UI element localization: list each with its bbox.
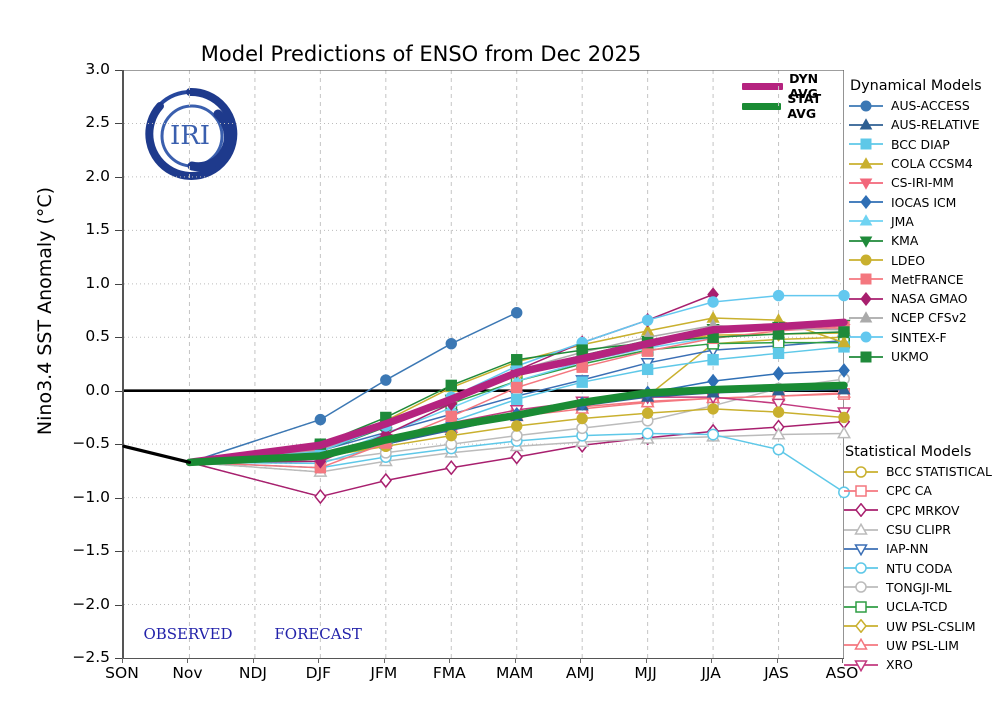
- series-lines: [124, 70, 844, 658]
- legend-label: NTU CODA: [886, 561, 952, 576]
- legend-marker-triangle-down-icon: [848, 176, 884, 190]
- legend-marker-diamond-icon: [848, 195, 884, 209]
- legend-marker-diamond-open-icon: [843, 503, 879, 517]
- legend-label: UW PSL-LIM: [886, 638, 959, 653]
- legend-label: BCC STATISTICAL: [886, 464, 992, 479]
- series-observed: [124, 446, 189, 462]
- legend-label: SINTEX-F: [891, 330, 947, 345]
- y-tick-mark: [115, 498, 122, 499]
- legend-marker-triangle-up-open-icon: [843, 523, 879, 537]
- legend-marker-triangle-up-icon: [848, 214, 884, 228]
- legend-marker-circle-icon: [848, 99, 884, 113]
- legend-marker-triangle-up-icon: [848, 118, 884, 132]
- legend-label: BCC DIAP: [891, 137, 950, 152]
- annotation-forecast: FORECAST: [274, 625, 362, 643]
- legend-row-jma[interactable]: JMA: [848, 212, 982, 231]
- legend-label: CSU CLIPR: [886, 522, 951, 537]
- legend-marker-diamond-icon: [848, 292, 884, 306]
- legend-label: AUS-ACCESS: [891, 98, 970, 113]
- y-tick-label: 3.0: [40, 60, 110, 78]
- y-tick-label: 1.5: [40, 220, 110, 238]
- legend-label: CPC CA: [886, 483, 932, 498]
- y-tick-label: 0.5: [40, 327, 110, 345]
- legend-label: IOCAS ICM: [891, 195, 956, 210]
- legend-row-cs-iri-mm[interactable]: CS-IRI-MM: [848, 173, 982, 192]
- legend-row-bcc-diap[interactable]: BCC DIAP: [848, 135, 982, 154]
- legend-marker-triangle-down-icon: [848, 234, 884, 248]
- x-tick-mark: [449, 658, 450, 663]
- x-tick-mark: [515, 658, 516, 663]
- legend-marker-square-icon: [848, 272, 884, 286]
- legend-marker-triangle-down-open-icon: [843, 542, 879, 556]
- x-tick-mark: [646, 658, 647, 663]
- legend-label: CS-IRI-MM: [891, 175, 954, 190]
- dynamical-legend-title: Dynamical Models: [850, 78, 982, 94]
- x-tick-mark: [318, 658, 319, 663]
- legend-marker-circle-icon: [848, 253, 884, 267]
- legend-label: KMA: [891, 233, 918, 248]
- legend-row-cpc-mrkov[interactable]: CPC MRKOV: [843, 501, 992, 520]
- legend-marker-triangle-down-open-icon: [843, 658, 879, 672]
- y-tick-mark: [115, 444, 122, 445]
- legend-marker-triangle-up-icon: [848, 157, 884, 171]
- dynamical-models-legend: Dynamical Models AUS-ACCESSAUS-RELATIVEB…: [848, 78, 982, 366]
- y-tick-mark: [115, 658, 122, 659]
- legend-marker-circle-open-icon: [843, 580, 879, 594]
- legend-label: LDEO: [891, 253, 925, 268]
- legend-label: UW PSL-CSLIM: [886, 619, 976, 634]
- legend-row-cpc-ca[interactable]: CPC CA: [843, 481, 992, 500]
- y-tick-label: 0.0: [40, 381, 110, 399]
- y-tick-label: 2.0: [40, 167, 110, 185]
- legend-label: IAP-NN: [886, 541, 928, 556]
- page-title: Model Predictions of ENSO from Dec 2025: [0, 42, 842, 66]
- statistical-legend-title: Statistical Models: [845, 444, 992, 460]
- x-tick-mark: [384, 658, 385, 663]
- plot-area: [122, 70, 844, 659]
- y-tick-label: 2.5: [40, 113, 110, 131]
- legend-row-kma[interactable]: KMA: [848, 231, 982, 250]
- y-tick-mark: [115, 177, 122, 178]
- y-tick-mark: [115, 123, 122, 124]
- legend-marker-circle-icon: [848, 330, 884, 344]
- legend-marker-triangle-up-open-icon: [843, 638, 879, 652]
- legend-marker-diamond-open-icon: [843, 619, 879, 633]
- legend-row-bcc-statistical[interactable]: BCC STATISTICAL: [843, 462, 992, 481]
- x-tick-mark: [777, 658, 778, 663]
- legend-row-cola-ccsm4[interactable]: COLA CCSM4: [848, 154, 982, 173]
- legend-row-csu-clipr[interactable]: CSU CLIPR: [843, 520, 992, 539]
- legend-row-tongji-ml[interactable]: TONGJI-ML: [843, 578, 992, 597]
- legend-marker-triangle-up-icon: [848, 311, 884, 325]
- y-tick-label: −1.0: [40, 488, 110, 506]
- x-tick-mark: [253, 658, 254, 663]
- legend-row-xro[interactable]: XRO: [843, 655, 992, 674]
- y-tick-label: −2.0: [40, 595, 110, 613]
- legend-row-nasa-gmao[interactable]: NASA GMAO: [848, 289, 982, 308]
- legend-label: MetFRANCE: [891, 272, 964, 287]
- legend-marker-circle-open-icon: [843, 561, 879, 575]
- legend-label: AUS-RELATIVE: [891, 117, 980, 132]
- y-tick-mark: [115, 391, 122, 392]
- y-tick-mark: [115, 551, 122, 552]
- legend-label: XRO: [886, 657, 913, 672]
- legend-marker-square-open-icon: [843, 484, 879, 498]
- legend-label: UCLA-TCD: [886, 599, 947, 614]
- y-tick-label: 1.0: [40, 274, 110, 292]
- legend-label: JMA: [891, 214, 914, 229]
- x-tick-mark: [187, 658, 188, 663]
- legend-row-sintex-f[interactable]: SINTEX-F: [848, 328, 982, 347]
- legend-label: NASA GMAO: [891, 291, 968, 306]
- legend-row-ntu-coda[interactable]: NTU CODA: [843, 558, 992, 577]
- legend-row-ucla-tcd[interactable]: UCLA-TCD: [843, 597, 992, 616]
- x-tick-mark: [122, 658, 123, 663]
- x-tick-mark: [711, 658, 712, 663]
- legend-row-ncep-cfsv2[interactable]: NCEP CFSv2: [848, 308, 982, 327]
- legend-row-ukmo[interactable]: UKMO: [848, 347, 982, 366]
- annotation-observed: OBSERVED: [143, 625, 232, 643]
- y-tick-label: −1.5: [40, 541, 110, 559]
- legend-row-aus-access[interactable]: AUS-ACCESS: [848, 96, 982, 115]
- legend-row-uw-psl-lim[interactable]: UW PSL-LIM: [843, 636, 992, 655]
- legend-row-iap-nn[interactable]: IAP-NN: [843, 539, 992, 558]
- legend-label: TONGJI-ML: [886, 580, 952, 595]
- legend-row-metfrance[interactable]: MetFRANCE: [848, 270, 982, 289]
- legend-label: NCEP CFSv2: [891, 310, 967, 325]
- legend-marker-square-open-icon: [843, 600, 879, 614]
- y-tick-label: −0.5: [40, 434, 110, 452]
- legend-row-uw-psl-cslim[interactable]: UW PSL-CSLIM: [843, 616, 992, 635]
- legend-marker-square-icon: [848, 350, 884, 364]
- legend-row-iocas-icm[interactable]: IOCAS ICM: [848, 192, 982, 211]
- legend-label: CPC MRKOV: [886, 503, 959, 518]
- enso-forecast-plot: Model Predictions of ENSO from Dec 2025 …: [0, 0, 1000, 727]
- y-tick-mark: [115, 230, 122, 231]
- statistical-models-legend: Statistical Models BCC STATISTICALCPC CA…: [843, 444, 992, 674]
- legend-marker-square-icon: [848, 137, 884, 151]
- legend-row-aus-relative[interactable]: AUS-RELATIVE: [848, 115, 982, 134]
- y-axis-label: Nino3.4 SST Anomaly (°C): [34, 11, 56, 611]
- legend-label: UKMO: [891, 349, 929, 364]
- y-tick-mark: [115, 284, 122, 285]
- y-tick-mark: [115, 337, 122, 338]
- legend-label: COLA CCSM4: [891, 156, 973, 171]
- y-tick-mark: [115, 605, 122, 606]
- y-tick-mark: [115, 70, 122, 71]
- legend-marker-circle-open-icon: [843, 465, 879, 479]
- legend-row-ldeo[interactable]: LDEO: [848, 250, 982, 269]
- x-tick-mark: [580, 658, 581, 663]
